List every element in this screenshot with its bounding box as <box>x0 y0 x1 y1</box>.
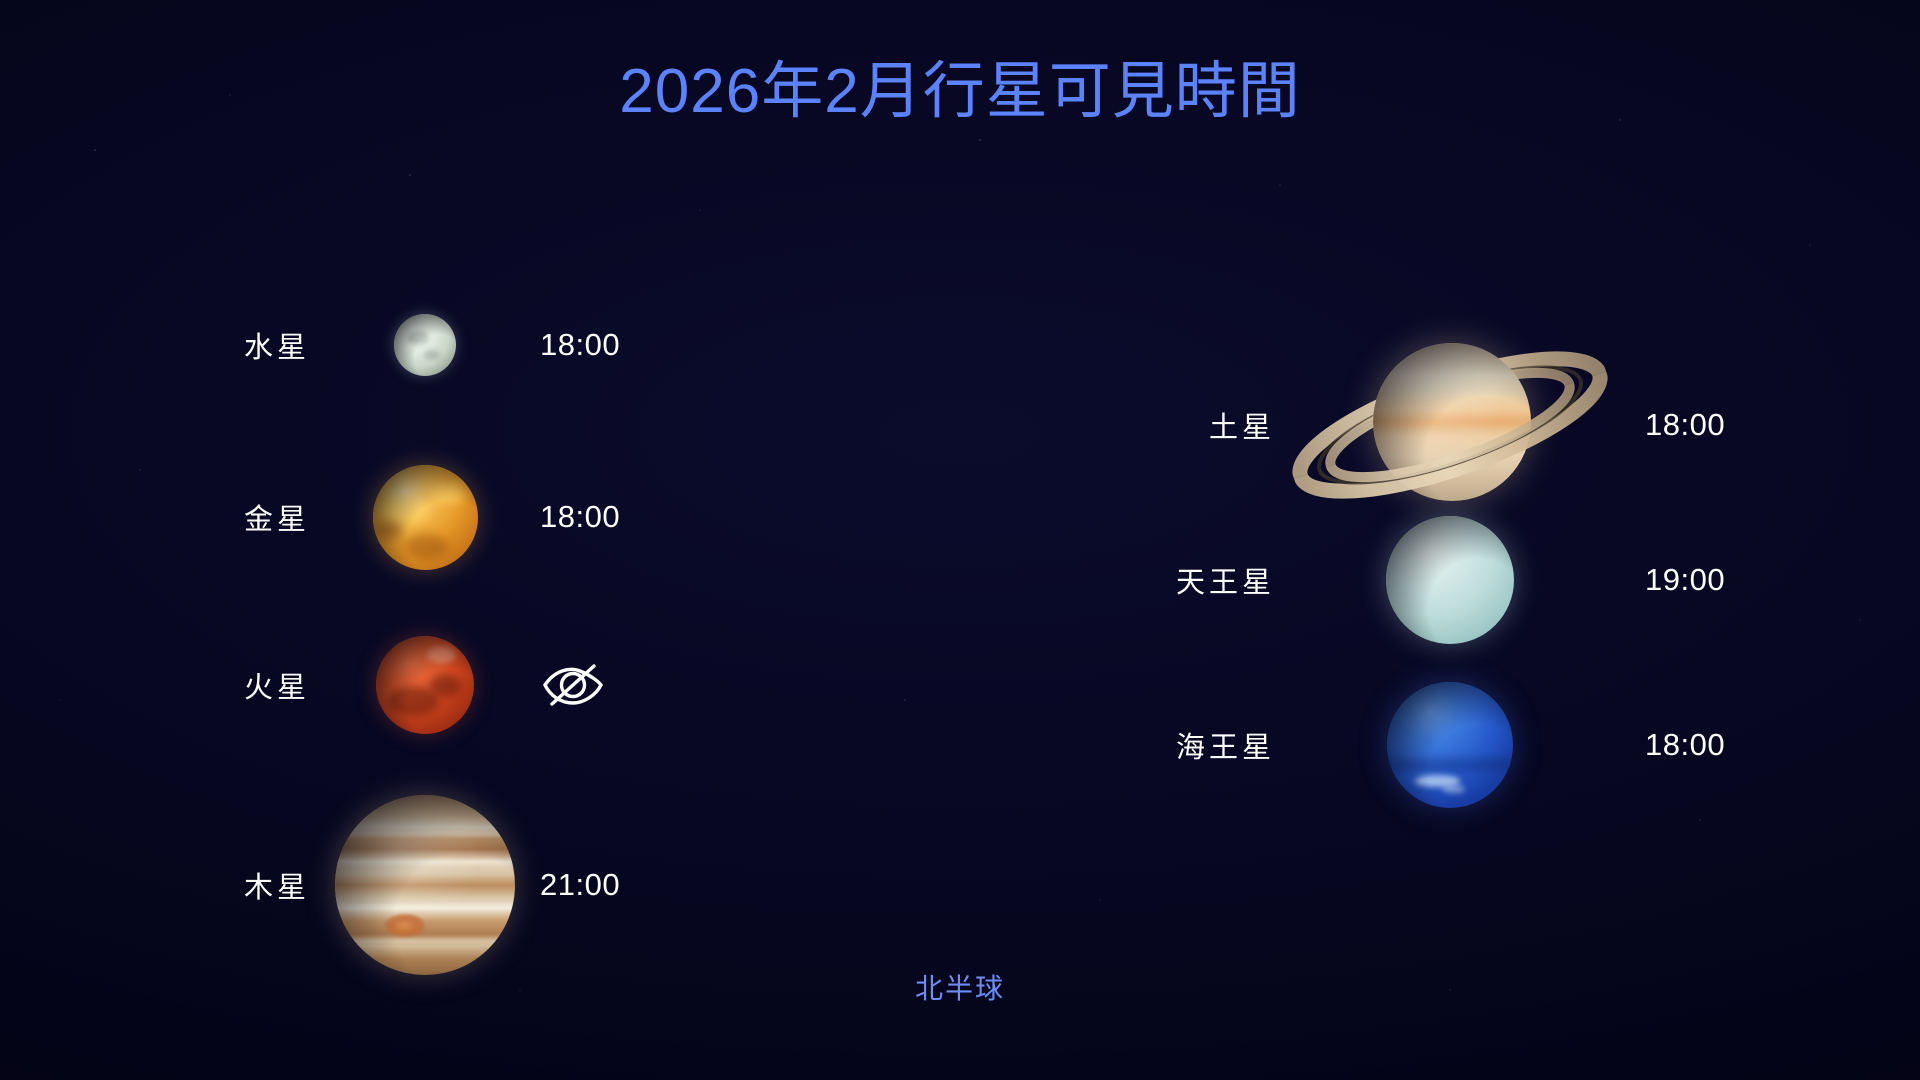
page-title: 2026年2月行星可見時間 <box>0 40 1920 130</box>
planet-row-neptune: 海王星 18:00 <box>1060 665 1840 825</box>
planet-neptune-icon <box>1387 682 1513 808</box>
hemisphere-note: 北半球 <box>0 967 1920 1007</box>
planet-image-saturn-slot <box>1275 320 1625 530</box>
planet-label-venus: 金星 <box>110 496 310 538</box>
planet-row-jupiter: 木星 21:00 <box>110 790 780 980</box>
planet-venus-icon <box>373 465 478 570</box>
planet-saturn-icon <box>1285 325 1615 525</box>
planet-image-venus-slot <box>310 452 540 582</box>
planet-row-mercury: 水星 18:00 <box>110 285 780 405</box>
planet-label-neptune: 海王星 <box>1060 724 1275 766</box>
planet-image-mercury-slot <box>310 285 540 405</box>
planet-time-saturn: 18:00 <box>1625 407 1825 443</box>
planet-time-mercury: 18:00 <box>540 327 740 363</box>
planet-time-venus: 18:00 <box>540 499 740 535</box>
planet-row-saturn: 土星 <box>1060 320 1840 530</box>
planet-image-mars-slot <box>310 620 540 750</box>
planet-label-saturn: 土星 <box>1060 404 1275 446</box>
planet-time-uranus: 19:00 <box>1625 562 1825 598</box>
planet-row-mars: 火星 <box>110 620 780 750</box>
planet-jupiter-icon <box>335 795 515 975</box>
planet-time-jupiter: 21:00 <box>540 867 740 903</box>
planet-time-neptune: 18:00 <box>1625 727 1825 763</box>
planet-image-uranus-slot <box>1275 500 1625 660</box>
eye-off-icon <box>540 659 606 711</box>
planet-row-uranus: 天王星 19:00 <box>1060 500 1840 660</box>
visibility-status-mars <box>540 645 740 725</box>
planet-image-neptune-slot <box>1275 665 1625 825</box>
planet-mars-icon <box>376 636 474 734</box>
planet-label-mercury: 水星 <box>110 324 310 366</box>
planet-image-jupiter-slot <box>310 790 540 980</box>
planet-label-uranus: 天王星 <box>1060 559 1275 601</box>
planet-label-mars: 火星 <box>110 664 310 706</box>
planet-uranus-icon <box>1386 516 1514 644</box>
planet-mercury-icon <box>394 314 456 376</box>
planet-label-jupiter: 木星 <box>110 864 310 906</box>
planet-row-venus: 金星 18:00 <box>110 452 780 582</box>
